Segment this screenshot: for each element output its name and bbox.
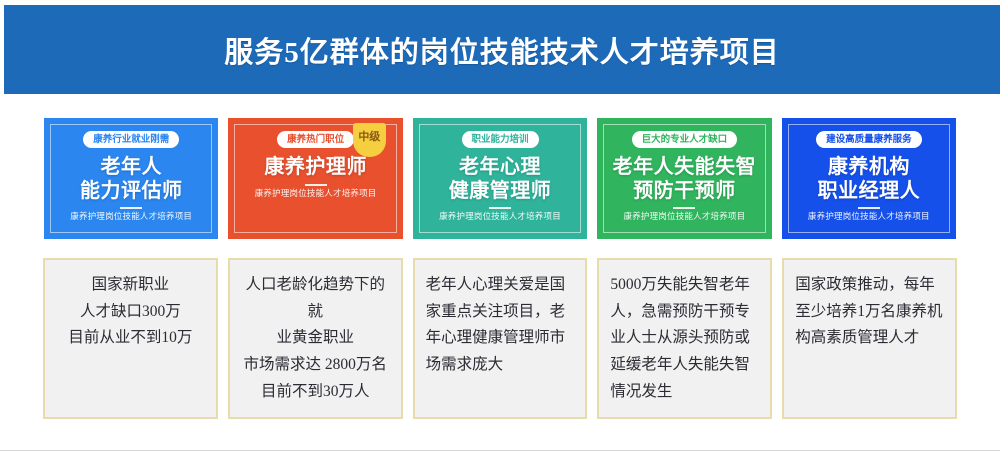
description-box-4: 5000万失能失智老年人，急需预防干预专业人士从源头预防或延缓老年人失能失智情况… — [597, 258, 772, 419]
card-content: 康养行业就业刚需 老年人 能力评估师 康养护理岗位技能人才培养项目 — [48, 122, 214, 235]
occupation-card-5[interactable]: 建设高质量康养服务 康养机构 职业经理人 康养护理岗位技能人才培养项目 — [782, 118, 956, 239]
card-badge-label: 康养热门职位 — [277, 131, 354, 148]
page-title: 服务5亿群体的岗位技能技术人才培养项目 — [224, 29, 780, 71]
description-text: 国家新职业 人才缺口300万 目前从业不到10万 — [56, 272, 205, 352]
level-ribbon-badge: 中级 — [353, 123, 386, 157]
card-title: 老年人失能失智 预防干预师 — [613, 155, 757, 202]
card-badge-label: 康养行业就业刚需 — [83, 131, 179, 148]
card-title: 老年心理 健康管理师 — [449, 155, 552, 202]
description-box-5: 国家政策推动，每年至少培养1万名康养机构高素质管理人才 — [782, 258, 957, 419]
occupation-card-4[interactable]: 巨大的专业人才缺口 老年人失能失智 预防干预师 康养护理岗位技能人才培养项目 — [597, 118, 771, 239]
card-title: 老年人 能力评估师 — [80, 155, 183, 202]
description-text: 人口老龄化趋势下的就 业黄金职业 市场需求达 2800万名 目前不到30万人 — [241, 272, 390, 405]
description-text: 5000万失能失智老年人，急需预防干预专业人士从源头预防或延缓老年人失能失智情况… — [610, 272, 759, 405]
card-divider — [489, 207, 511, 209]
description-box-2: 人口老龄化趋势下的就 业黄金职业 市场需求达 2800万名 目前不到30万人 — [228, 258, 403, 419]
description-text: 老年人心理关爱是国家重点关注项目，老年心理健康管理师市场需求庞大 — [426, 272, 575, 379]
description-box-3: 老年人心理关爱是国家重点关注项目，老年心理健康管理师市场需求庞大 — [413, 258, 588, 419]
card-content: 巨大的专业人才缺口 老年人失能失智 预防干预师 康养护理岗位技能人才培养项目 — [601, 122, 767, 235]
card-divider — [120, 207, 142, 209]
occupation-cards-row: 康养行业就业刚需 老年人 能力评估师 康养护理岗位技能人才培养项目 中级 康养热… — [44, 118, 956, 239]
level-ribbon-label: 中级 — [358, 131, 380, 142]
card-footer-label: 康养护理岗位技能人才培养项目 — [808, 213, 930, 222]
card-badge-label: 巨大的专业人才缺口 — [632, 131, 738, 148]
card-title: 康养护理师 — [264, 155, 367, 179]
occupation-card-3[interactable]: 职业能力培训 老年心理 健康管理师 康养护理岗位技能人才培养项目 — [413, 118, 587, 239]
card-footer-label: 康养护理岗位技能人才培养项目 — [255, 190, 377, 199]
description-text: 国家政策推动，每年至少培养1万名康养机构高素质管理人才 — [795, 272, 944, 352]
description-box-1: 国家新职业 人才缺口300万 目前从业不到10万 — [43, 258, 218, 419]
occupation-card-1[interactable]: 康养行业就业刚需 老年人 能力评估师 康养护理岗位技能人才培养项目 — [44, 118, 218, 239]
card-footer-label: 康养护理岗位技能人才培养项目 — [70, 213, 192, 222]
card-footer-label: 康养护理岗位技能人才培养项目 — [439, 213, 561, 222]
description-row: 国家新职业 人才缺口300万 目前从业不到10万 人口老龄化趋势下的就 业黄金职… — [43, 258, 957, 419]
card-footer-label: 康养护理岗位技能人才培养项目 — [624, 213, 746, 222]
bottom-divider — [0, 450, 1000, 451]
card-badge-label: 职业能力培训 — [462, 131, 539, 148]
card-badge-label: 建设高质量康养服务 — [816, 131, 922, 148]
card-divider — [858, 207, 880, 209]
card-content: 建设高质量康养服务 康养机构 职业经理人 康养护理岗位技能人才培养项目 — [786, 122, 952, 235]
card-divider — [305, 184, 327, 186]
card-divider — [673, 207, 695, 209]
card-content: 职业能力培训 老年心理 健康管理师 康养护理岗位技能人才培养项目 — [417, 122, 583, 235]
header-banner: 服务5亿群体的岗位技能技术人才培养项目 — [4, 5, 1000, 94]
card-title: 康养机构 职业经理人 — [818, 155, 921, 202]
occupation-card-2[interactable]: 中级 康养热门职位 康养护理师 康养护理岗位技能人才培养项目 — [228, 118, 402, 239]
